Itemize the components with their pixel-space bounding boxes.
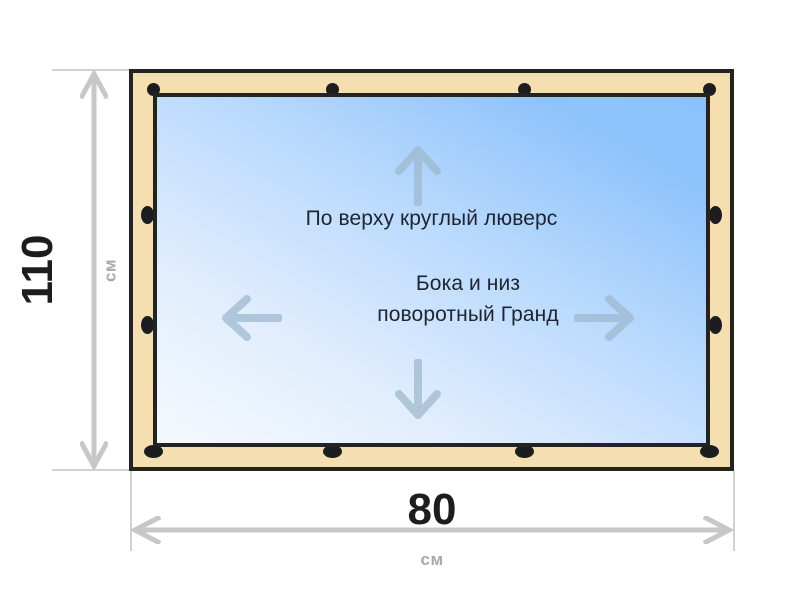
arrow-down-icon [393,359,443,421]
width-unit: см [332,551,532,568]
caption-top-grommet: По верху круглый люверс [157,203,706,234]
grommet-right [709,206,722,224]
caption-sides-bottom: Бока и низ поворотный Гранд [258,268,678,330]
blind-panel: По верху круглый люверс Бока и низ повор… [153,93,710,447]
grommet-right [709,316,722,334]
width-value: 80 [332,488,532,532]
height-unit: см [102,241,119,301]
height-value: 110 [16,210,60,330]
arrow-up-icon [393,144,443,206]
blind-frame: По верху круглый люверс Бока и низ повор… [129,69,734,471]
blind-diagram: 110 см 80 см [0,0,800,600]
